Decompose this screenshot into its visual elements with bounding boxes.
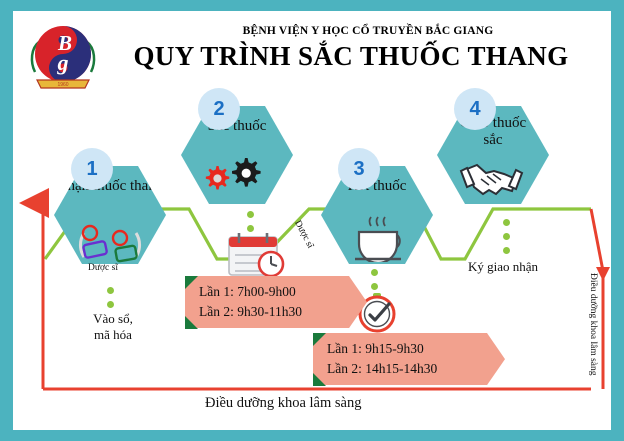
step-1-dots (107, 287, 114, 315)
step-4-dots (503, 219, 510, 261)
callout-1-line2: Lần 2: 9h30-11h30 (199, 302, 341, 322)
callout-schedule-rot-thuoc: Lần 1: 9h15-9h30 Lần 2: 14h15-14h30 (313, 333, 505, 385)
step-2-dots (247, 211, 254, 239)
right-role-label: Điều dưỡng khoa lâm sàng (588, 273, 598, 376)
step-1-role: Dược sĩ (88, 263, 118, 273)
steaming-cup-icon (321, 216, 433, 267)
handshake-icon (437, 159, 549, 206)
callout-schedule-sac-thuoc: Lần 1: 7h00-9h00 Lần 2: 9h30-11h30 (185, 276, 367, 328)
step-1-note: Vào sổ, mã hóa (58, 311, 168, 342)
gears-icon (181, 146, 293, 195)
poster-inner-panel: B g 1960 BỆNH VIỆN Y HỌC CỔ TRUYỀN BẮC G… (13, 11, 611, 430)
step-1-number: 1 (71, 148, 113, 190)
callout-1-line1: Lần 1: 7h00-9h00 (199, 282, 341, 302)
step-3-dots (371, 269, 378, 297)
bottom-role-label: Điều dưỡng khoa lâm sàng (205, 395, 361, 412)
callout-2-line1: Lần 1: 9h15-9h30 (327, 339, 479, 359)
step-1-note-line2: mã hóa (58, 327, 168, 343)
step-4-label-line2: sắc (437, 132, 549, 149)
step-2-number: 2 (198, 88, 240, 130)
step-3-number: 3 (338, 148, 380, 190)
infographic-poster: B g 1960 BỆNH VIỆN Y HỌC CỔ TRUYỀN BẮC G… (0, 0, 624, 441)
step-4-number: 4 (454, 88, 496, 130)
callout-2-line2: Lần 2: 14h15-14h30 (327, 359, 479, 379)
step-4-note: Ký giao nhận (443, 259, 563, 275)
